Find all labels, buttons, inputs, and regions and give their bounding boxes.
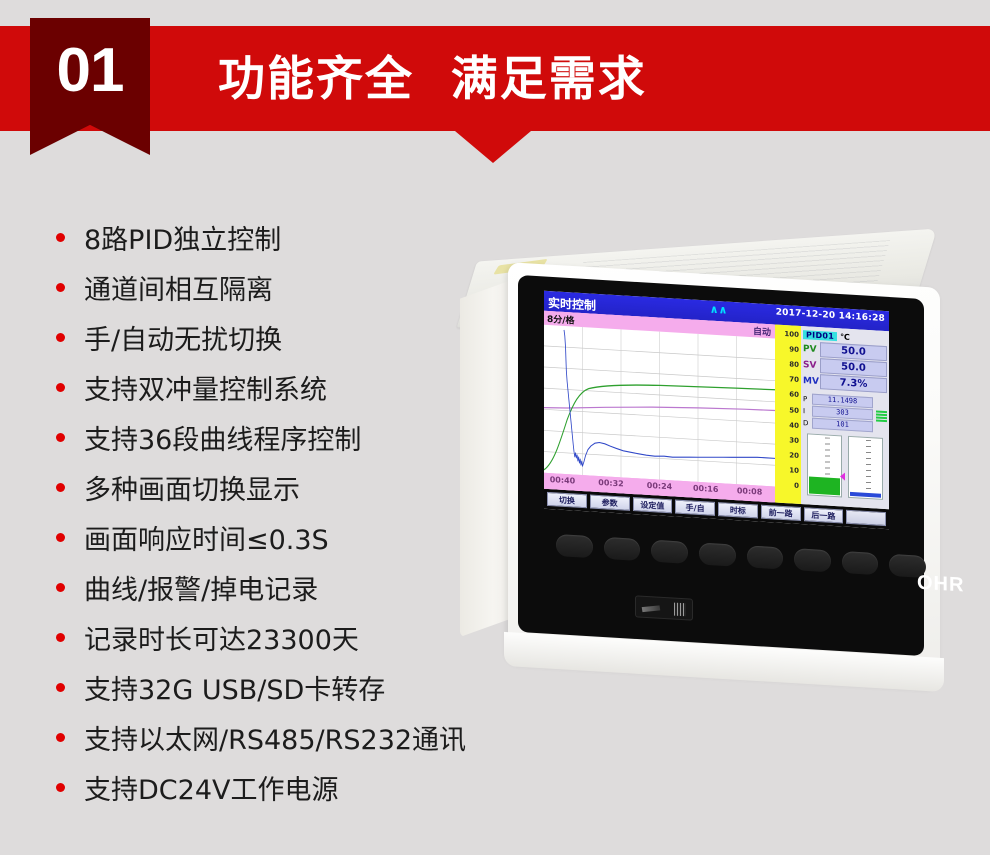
softkey-setpoint[interactable]: 设定值: [633, 497, 673, 513]
list-item: 曲线/报警/掉电记录: [56, 562, 526, 612]
pid-parameters-group: P 11.1498 I 303 D 101: [803, 393, 887, 434]
section-number: 01: [57, 40, 124, 102]
bullet-dot-icon: [56, 633, 65, 642]
feature-label: 8路PID独立控制: [84, 218, 281, 257]
bullet-dot-icon: [56, 583, 65, 592]
bullet-dot-icon: [56, 333, 65, 342]
list-item: 手/自动无扰切换: [56, 312, 526, 362]
hardware-key[interactable]: [604, 537, 641, 561]
bullet-dot-icon: [56, 783, 65, 792]
softkey-parameters[interactable]: 参数: [590, 494, 630, 510]
time-tick-label: 00:40: [550, 475, 575, 486]
pid-bargraphs: [803, 433, 887, 500]
hardware-key[interactable]: [842, 551, 879, 575]
wave-logo-icon: ∧∧: [710, 303, 728, 317]
banner-title: 功能齐全 满足需求: [218, 40, 647, 109]
time-tick-label: 00:24: [647, 481, 672, 492]
bargraph-fill: [809, 477, 840, 496]
y-tick-label: 30: [789, 436, 799, 445]
hardware-key[interactable]: [556, 534, 593, 558]
bullet-dot-icon: [56, 483, 65, 492]
feature-label: 手/自动无扰切换: [84, 318, 282, 357]
pid-param-p-key: P: [803, 395, 810, 403]
y-tick-label: 20: [789, 451, 799, 460]
y-tick-label: 0: [794, 482, 799, 490]
list-item: 通道间相互隔离: [56, 262, 526, 312]
lcd-body: 8分/格 自动: [544, 311, 889, 509]
list-item: 支持36段曲线程序控制: [56, 412, 526, 462]
feature-label: 画面响应时间≤0.3S: [84, 518, 329, 557]
brand-logo: OHR: [917, 572, 964, 598]
bullet-dot-icon: [56, 683, 65, 692]
y-tick-label: 40: [789, 421, 799, 430]
feature-label: 支持36段曲线程序控制: [84, 418, 361, 457]
pid-sv-label: SV: [803, 360, 820, 371]
bullet-dot-icon: [56, 533, 65, 542]
softkey-blank[interactable]: [846, 510, 886, 526]
pid-pv-label: PV: [803, 344, 820, 355]
pid-mv-value: 7.3%: [820, 374, 887, 393]
feature-label: 支持DC24V工作电源: [84, 768, 338, 807]
bargraph-setpoint-marker-icon: [840, 473, 845, 481]
softkey-next-channel[interactable]: 后一路: [804, 507, 844, 523]
feature-label: 支持以太网/RS485/RS232通讯: [84, 718, 466, 757]
bullet-dot-icon: [56, 283, 65, 292]
bullet-dot-icon: [56, 383, 65, 392]
feature-label: 多种画面切换显示: [84, 468, 300, 507]
pid-param-d-value: 101: [812, 418, 873, 433]
list-item: 支持双冲量控制系统: [56, 362, 526, 412]
list-item: 画面响应时间≤0.3S: [56, 512, 526, 562]
hardware-key[interactable]: [651, 540, 688, 564]
pid-output-bargraph-2: [848, 436, 883, 500]
list-item: 8路PID独立控制: [56, 212, 526, 262]
y-tick-label: 10: [789, 466, 799, 475]
feature-label: 通道间相互隔离: [84, 268, 273, 307]
y-tick-label: 70: [789, 376, 799, 385]
list-item: 多种画面切换显示: [56, 462, 526, 512]
time-tick-label: 00:32: [598, 478, 623, 489]
hardware-key[interactable]: [699, 542, 736, 566]
trend-chart-svg: [544, 325, 775, 487]
list-item: 记录时长可达23300天: [56, 612, 526, 662]
time-tick-label: 00:08: [737, 486, 762, 497]
bargraph-fill: [850, 492, 881, 498]
softkey-timemark[interactable]: 时标: [718, 502, 758, 518]
graph-value-axis: 100 90 80 70 60 50 40 30 20 10 0: [775, 324, 801, 504]
pid-status-leds-icon: [876, 410, 887, 422]
hardware-key[interactable]: [794, 548, 831, 572]
bullet-dot-icon: [56, 733, 65, 742]
y-tick-label: 100: [784, 330, 799, 339]
section-number-ribbon: 01: [30, 18, 150, 155]
usb-sd-slot[interactable]: [635, 595, 693, 620]
list-item: 支持32G USB/SD卡转存: [56, 662, 526, 712]
hardware-key[interactable]: [747, 545, 784, 569]
bullet-dot-icon: [56, 233, 65, 242]
y-tick-label: 80: [789, 360, 799, 369]
list-item: 支持以太网/RS485/RS232通讯: [56, 712, 526, 762]
graph-mode-label: 自动: [753, 324, 771, 338]
pid-channel-name: PID01: [803, 330, 837, 341]
softkey-previous-channel[interactable]: 前一路: [761, 505, 801, 521]
y-tick-label: 90: [789, 345, 799, 354]
y-tick-label: 60: [789, 391, 799, 400]
feature-label: 记录时长可达23300天: [84, 618, 359, 657]
lcd-datetime: 2017-12-20 14:16:28: [776, 308, 885, 324]
banner-notch-triangle: [455, 131, 531, 163]
softkey-manual-auto[interactable]: 手/自: [675, 500, 715, 516]
pid-param-d-key: D: [803, 419, 810, 427]
list-item: 支持DC24V工作电源: [56, 762, 526, 812]
y-tick-label: 50: [789, 406, 799, 415]
feature-label: 支持32G USB/SD卡转存: [84, 668, 385, 707]
trend-graph-region: 8分/格 自动: [544, 311, 775, 503]
pid-param-i-key: I: [803, 407, 810, 415]
softkey-switch[interactable]: 切换: [547, 492, 587, 508]
feature-label: 支持双冲量控制系统: [84, 368, 327, 407]
product-device-image: 实时控制 ∧∧ 2017-12-20 14:16:28 8分/格 自动: [460, 245, 980, 675]
trend-plot-area: [544, 325, 775, 487]
pid-side-panel: PID01 ℃ PV 50.0 SV 50.0 MV 7.3%: [801, 326, 889, 509]
time-tick-label: 00:16: [693, 484, 718, 495]
pid-unit-label: ℃: [840, 332, 850, 342]
bullet-dot-icon: [56, 433, 65, 442]
feature-label: 曲线/报警/掉电记录: [84, 568, 318, 607]
bargraph-ticks-icon: [866, 440, 871, 496]
pid-output-bargraph-1: [807, 433, 842, 497]
device-lcd-screen[interactable]: 实时控制 ∧∧ 2017-12-20 14:16:28 8分/格 自动: [544, 291, 889, 529]
feature-list: 8路PID独立控制 通道间相互隔离 手/自动无扰切换 支持双冲量控制系统 支持3…: [56, 212, 526, 812]
pid-mv-label: MV: [803, 376, 820, 387]
